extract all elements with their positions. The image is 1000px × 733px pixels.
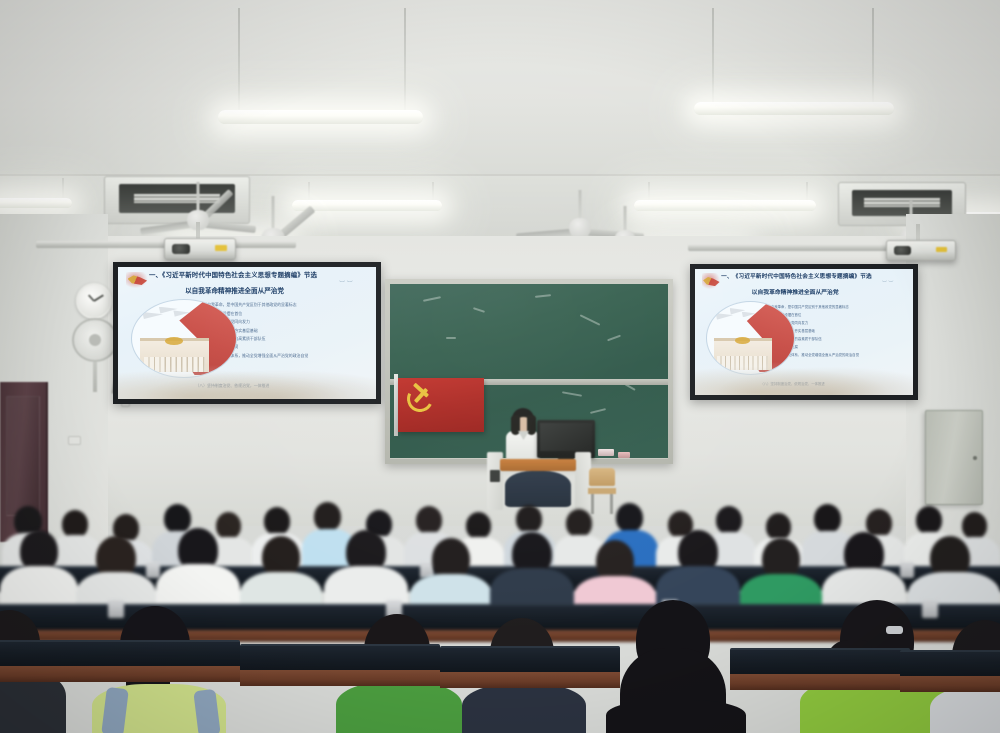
- fan-arm: [93, 362, 97, 392]
- presenter-at-podium: [505, 408, 541, 464]
- blackboard-eraser[interactable]: [598, 449, 614, 456]
- ceiling-projector: [164, 238, 236, 260]
- student-head: [814, 504, 841, 533]
- wall-socket[interactable]: [68, 436, 81, 445]
- slide-bird-glyph: ︶ ︶: [882, 280, 893, 287]
- chalk-mark: [607, 334, 621, 341]
- student-body: [930, 688, 1000, 733]
- student-body: [336, 682, 462, 733]
- student-head: [916, 506, 942, 534]
- projector-indicator: [936, 247, 947, 252]
- party-emblem-icon: [126, 272, 149, 289]
- wall-clock: [76, 283, 112, 319]
- slide-title: 一、《习近平新时代中国特色社会主义思想专题摘编》节选: [721, 273, 904, 281]
- wall-mounted-fan: [72, 318, 118, 362]
- slide-mountain-mist: [695, 362, 913, 395]
- desk-top-front-farright: [730, 674, 910, 690]
- student-head: [962, 512, 987, 539]
- right-slide-surface: 一、《习近平新时代中国特色社会主义思想专题摘编》节选 以自我革命精神推进全面从严…: [695, 269, 913, 395]
- chalk-mark: [473, 307, 485, 313]
- suspended-tube-light: [0, 198, 72, 208]
- student-head: [416, 506, 442, 534]
- podium-control-box[interactable]: [490, 470, 500, 482]
- chair-leg: [591, 494, 594, 514]
- tube-light-rod: [404, 8, 406, 112]
- student-body: [462, 684, 586, 733]
- slide-title: 一、《习近平新时代中国特色社会主义思想专题摘编》节选: [149, 271, 366, 280]
- classroom-photo: 一、《习近平新时代中国特色社会主义思想专题摘编》节选 以自我革命精神推进全面从严…: [0, 0, 1000, 733]
- student-head: [264, 507, 290, 535]
- student-head: [164, 504, 191, 533]
- hair-clip: [886, 626, 903, 634]
- slide-bird-glyph: ︶ ︶: [339, 279, 353, 288]
- party-flag: [398, 378, 484, 432]
- podium-body: [505, 471, 571, 507]
- chalk-mark: [580, 314, 601, 325]
- party-emblem-icon: [702, 273, 722, 289]
- projector-lens: [172, 244, 190, 254]
- slide-subtitle: 以自我革命精神推进全面从严治党: [752, 289, 905, 297]
- ceiling-upper: [0, 0, 1000, 176]
- chair-leg: [610, 494, 613, 514]
- door-panel: [6, 396, 40, 516]
- seat-divider-clip: [922, 600, 938, 618]
- hammer-and-sickle-icon: [407, 386, 433, 412]
- podium-top: [500, 459, 576, 471]
- tube-light-rod: [238, 8, 240, 112]
- student-head: [616, 503, 643, 532]
- student-body: [606, 700, 746, 733]
- lecture-podium: [500, 459, 576, 507]
- seat-divider-clip: [900, 562, 914, 578]
- tube-light-rod: [872, 8, 874, 104]
- fan-stem: [272, 196, 275, 230]
- right-projection-screen: 一、《习近平新时代中国特色社会主义思想专题摘编》节选 以自我革命精神推进全面从严…: [690, 264, 918, 400]
- slide-mountain-mist: [118, 365, 376, 399]
- student-head: [62, 510, 88, 538]
- student-head: [314, 502, 341, 531]
- chalk-mark: [446, 337, 456, 339]
- electrical-cabinet[interactable]: [925, 410, 983, 505]
- student-head: [716, 506, 742, 534]
- slide-subtitle: 以自我革命精神推进全面从严治党: [185, 287, 366, 296]
- wooden-side-chair[interactable]: [588, 468, 616, 514]
- left-slide-surface: 一、《习近平新时代中国特色社会主义思想专题摘编》节选 以自我革命精神推进全面从严…: [118, 267, 376, 399]
- desk-top-front-right: [440, 672, 620, 688]
- tube-light-rod: [712, 8, 714, 104]
- fan-hub: [89, 334, 101, 346]
- chalk-mark: [562, 391, 582, 396]
- monitor-screen: [540, 423, 592, 451]
- ceiling-projector: [886, 240, 956, 261]
- desk-top-front-left: [0, 666, 240, 682]
- illustration-pennant: [716, 313, 733, 320]
- chair-back: [589, 468, 615, 486]
- projector-indicator: [215, 245, 226, 250]
- desk-top-front-center: [240, 670, 440, 686]
- student-head: [516, 505, 542, 533]
- projector-lens: [894, 246, 912, 255]
- chalk-mark: [534, 294, 550, 298]
- suspended-tube-light: [694, 102, 894, 115]
- student-head: [766, 513, 791, 540]
- blackboard-eraser[interactable]: [618, 452, 630, 458]
- left-projection-screen: 一、《习近平新时代中国特色社会主义思想专题摘编》节选 以自我革命精神推进全面从严…: [113, 262, 381, 404]
- student-head: [466, 512, 491, 539]
- hammer-sickle-glyph: [128, 275, 148, 285]
- chalk-mark: [423, 296, 441, 302]
- student-head: [216, 512, 241, 539]
- seat-divider-clip: [108, 600, 124, 618]
- illustration-pennant: [142, 312, 163, 319]
- student-head: [566, 509, 592, 537]
- hammer-sickle-glyph: [703, 277, 719, 286]
- chalk-mark: [590, 408, 606, 414]
- desk-top-front-edge: [900, 676, 1000, 692]
- seat-divider-clip: [146, 562, 160, 578]
- suspended-tube-light: [218, 110, 423, 124]
